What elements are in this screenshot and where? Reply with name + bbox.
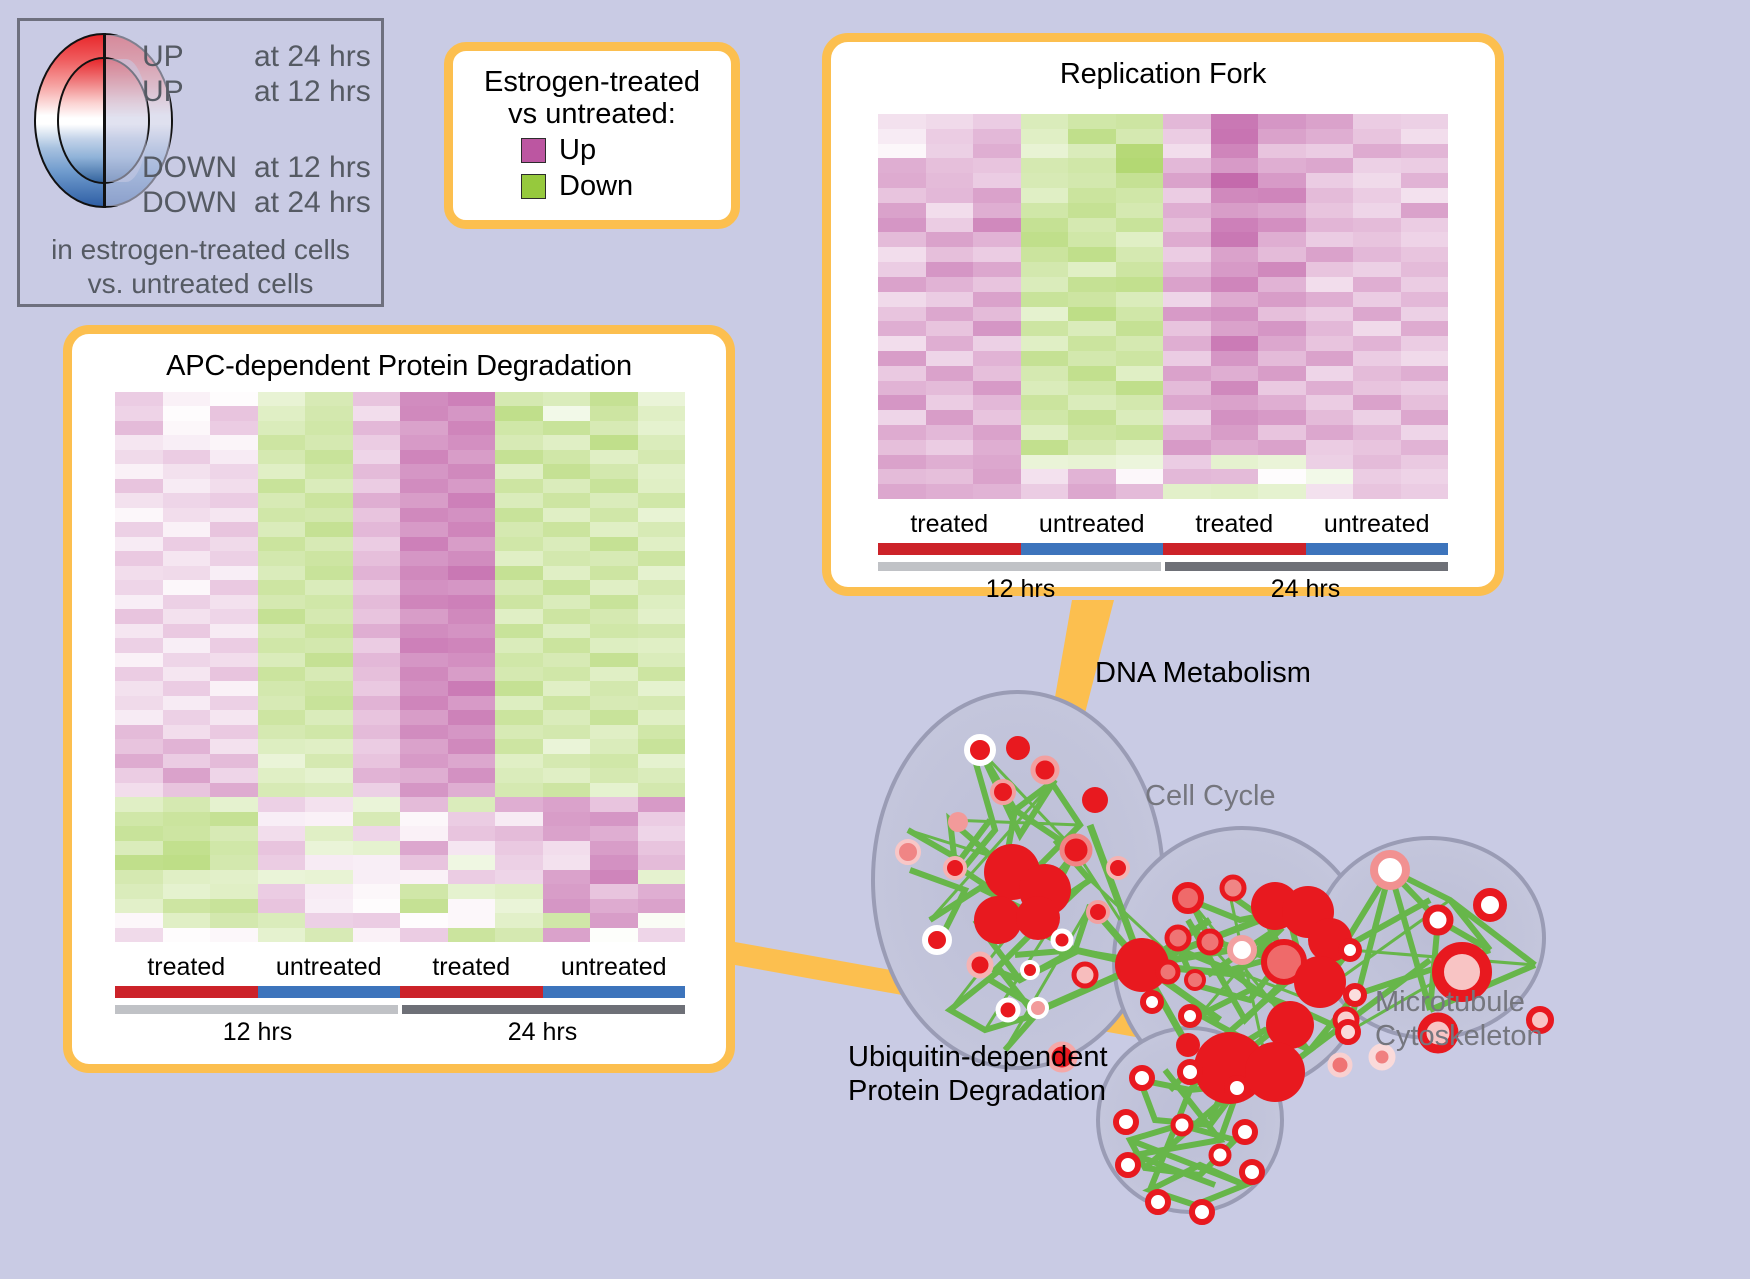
heatmap-cell [543, 667, 591, 681]
heatmap-cell [448, 406, 496, 420]
heatmap-cell [1116, 351, 1164, 366]
heatmap-cell [1163, 440, 1211, 455]
heatmap-cell [258, 566, 306, 580]
heatmap-cell [1353, 321, 1401, 336]
heatmap-cell [973, 218, 1021, 233]
heatmap-cell [1211, 262, 1259, 277]
heatmap-cell [115, 537, 163, 551]
heatmap-cell [305, 435, 353, 449]
heatmap-cell [400, 624, 448, 638]
heatmap-cell [448, 566, 496, 580]
heatmap-cell [973, 232, 1021, 247]
heatmap-cell [1163, 321, 1211, 336]
heatmap-cell [543, 841, 591, 855]
heatmap-cell [115, 580, 163, 594]
heatmap-cell [495, 797, 543, 811]
heatmap-cell [1116, 410, 1164, 425]
heatmap-cell [353, 768, 401, 782]
heatmap-cell [400, 508, 448, 522]
heatmap-cell [1116, 336, 1164, 351]
heatmap-cell [305, 899, 353, 913]
heatmap-cell [1068, 247, 1116, 262]
heatmap-cell [1163, 129, 1211, 144]
heatmap-cell [1211, 144, 1259, 159]
heatmap-cell [305, 609, 353, 623]
heatmap-cell [353, 421, 401, 435]
heatmap-cell [115, 667, 163, 681]
heatmap-cell [305, 667, 353, 681]
heatmap-cell [590, 464, 638, 478]
heatmap-cell [1021, 292, 1069, 307]
heatmap-cell [258, 421, 306, 435]
rep-time-0: 12 hrs [878, 575, 1163, 604]
heatmap-cell [305, 870, 353, 884]
heatmap-cell [448, 609, 496, 623]
legend-key-up-24: UP [142, 41, 254, 74]
heatmap-cell [210, 681, 258, 695]
heatmap-cell [1163, 455, 1211, 470]
heatmap-cell [305, 566, 353, 580]
heatmap-cell [1258, 247, 1306, 262]
heatmap-cell [1068, 484, 1116, 499]
heatmap-cell [1401, 395, 1449, 410]
rep-time-1: 24 hrs [1163, 575, 1448, 604]
heatmap-cell [305, 638, 353, 652]
heatmap-cell [400, 522, 448, 536]
heatmap-cell [163, 681, 211, 695]
heatmap-cell [926, 173, 974, 188]
heatmap-cell [1021, 114, 1069, 129]
heatmap-cell [353, 464, 401, 478]
heatmap-cell [1116, 232, 1164, 247]
key-item-up: Up [521, 134, 731, 167]
heatmap-cell [115, 435, 163, 449]
heatmap-cell [115, 797, 163, 811]
legend-key-up-12: UP [142, 76, 254, 109]
heatmap-cell [973, 395, 1021, 410]
heatmap-cell [115, 551, 163, 565]
heatmap-cell [163, 739, 211, 753]
heatmap-cell [115, 392, 163, 406]
heatmap-cell [448, 653, 496, 667]
heatmap-cell [638, 725, 686, 739]
rep-cond-3: untreated [1306, 510, 1449, 539]
heatmap-cell [1163, 277, 1211, 292]
heatmap-cell [353, 580, 401, 594]
heatmap-cell [115, 609, 163, 623]
heatmap-cell [543, 537, 591, 551]
heatmap-cell [1306, 469, 1354, 484]
heatmap-cell [1258, 188, 1306, 203]
heatmap-cell [1306, 188, 1354, 203]
heatmap-cell [638, 928, 686, 942]
heatmap-cell [495, 537, 543, 551]
heatmap-cell [353, 928, 401, 942]
legend-key-down-24: DOWN [142, 187, 254, 220]
heatmap-cell [258, 783, 306, 797]
heatmap-cell [973, 425, 1021, 440]
heatmap-cell [590, 609, 638, 623]
heatmap-cell [878, 484, 926, 499]
heatmap-cell [163, 392, 211, 406]
heatmap-cell [1306, 292, 1354, 307]
heatmap-cell [210, 696, 258, 710]
network-label-ubiquitin-degradation: Ubiquitin-dependent Protein Degradation [848, 1040, 1108, 1108]
heatmap-cell [1306, 114, 1354, 129]
heatmap-cell [1401, 173, 1449, 188]
heatmap-cell [1306, 321, 1354, 336]
heatmap-cell [638, 768, 686, 782]
microtubule-line2: Cytoskeleton [1375, 1019, 1543, 1053]
heatmap-cell [590, 884, 638, 898]
heatmap-cell [210, 768, 258, 782]
key-item-down: Down [521, 170, 731, 203]
heatmap-cell [590, 928, 638, 942]
heatmap-cell [1116, 218, 1164, 233]
legend-value-up-24: at 24 hrs [254, 41, 371, 74]
heatmap-cell [305, 580, 353, 594]
heatmap-cell [878, 203, 926, 218]
heatmap-cell [1021, 321, 1069, 336]
heatmap-cell [400, 826, 448, 840]
apc-condition-bar [115, 986, 685, 998]
heatmap-cell [353, 870, 401, 884]
heatmap-cell [1353, 173, 1401, 188]
timepoint-segment-1 [1165, 562, 1448, 571]
heatmap-cell [353, 392, 401, 406]
heatmap-cell [590, 725, 638, 739]
heatmap-cell [1116, 114, 1164, 129]
heatmap-cell [258, 884, 306, 898]
heatmap-cell [1258, 366, 1306, 381]
heatmap-cell [878, 129, 926, 144]
heatmap-cell [1068, 469, 1116, 484]
heatmap-cell [638, 899, 686, 913]
heatmap-cell [1068, 455, 1116, 470]
heatmap-cell [163, 421, 211, 435]
heatmap-cell [305, 768, 353, 782]
heatmap-cell [1068, 188, 1116, 203]
heatmap-cell [1163, 173, 1211, 188]
heatmap-cell [878, 232, 926, 247]
heatmap-cell [305, 841, 353, 855]
heatmap-cell [163, 913, 211, 927]
heatmap-cell [1306, 440, 1354, 455]
heatmap-cell [1401, 144, 1449, 159]
heatmap-cell [543, 450, 591, 464]
heatmap-cell [1306, 366, 1354, 381]
heatmap-cell [878, 455, 926, 470]
heatmap-cell [1211, 158, 1259, 173]
heatmap-cell [1258, 144, 1306, 159]
legend-row-up-12: UP at 12 hrs [142, 76, 382, 109]
heatmap-cell [1258, 455, 1306, 470]
heatmap-cell [926, 262, 974, 277]
heatmap-cell [878, 351, 926, 366]
heatmap-cell [543, 768, 591, 782]
heatmap-cell [1401, 129, 1449, 144]
heatmap-cell [400, 754, 448, 768]
heatmap-cell [305, 653, 353, 667]
heatmap-cell [1211, 247, 1259, 262]
condition-segment-0 [115, 986, 258, 998]
heatmap-cell [1021, 381, 1069, 396]
heatmap-cell [495, 681, 543, 695]
heatmap-cell [115, 508, 163, 522]
panel-replication-fork: Replication Fork treated untreated treat… [822, 33, 1504, 596]
heatmap-cell [258, 739, 306, 753]
heatmap-cell [353, 479, 401, 493]
heatmap-cell [878, 469, 926, 484]
heatmap-cell [1116, 262, 1164, 277]
heatmap-cell [495, 739, 543, 753]
heatmap-cell [400, 493, 448, 507]
heatmap-cell [353, 841, 401, 855]
heatmap-cell [210, 464, 258, 478]
heatmap-cell [1258, 173, 1306, 188]
heatmap-cell [1163, 307, 1211, 322]
heatmap-cell [926, 336, 974, 351]
heatmap-cell [1021, 232, 1069, 247]
heatmap-cell [305, 783, 353, 797]
heatmap-cell [543, 653, 591, 667]
heatmap-cell [115, 841, 163, 855]
heatmap-cell [353, 609, 401, 623]
heatmap-cell [1401, 336, 1449, 351]
heatmap-cell [1163, 158, 1211, 173]
heatmap-cell [1401, 321, 1449, 336]
heatmap-cell [590, 624, 638, 638]
heatmap-cell [973, 262, 1021, 277]
heatmap-cell [638, 667, 686, 681]
heatmap-cell [400, 667, 448, 681]
heatmap-cell [163, 725, 211, 739]
heatmap-cell [210, 710, 258, 724]
heatmap-cell [1211, 425, 1259, 440]
heatmap-cell [163, 450, 211, 464]
heatmap-cell [400, 479, 448, 493]
heatmap-cell [973, 292, 1021, 307]
heatmap-cell [400, 899, 448, 913]
heatmap-cell [258, 464, 306, 478]
pathway-network: DNA Metabolism Cell Cycle Microtubule Cy… [790, 620, 1750, 1279]
heatmap-cell [210, 841, 258, 855]
heatmap-cell [353, 754, 401, 768]
heatmap-cell [1211, 395, 1259, 410]
heatmap-cell [1068, 307, 1116, 322]
heatmap-cell [1068, 410, 1116, 425]
legend-footer: in estrogen-treated cells vs. untreated … [20, 233, 381, 301]
heatmap-cell [210, 624, 258, 638]
heatmap-cell [590, 522, 638, 536]
heatmap-cell [400, 450, 448, 464]
heatmap-cell [305, 928, 353, 942]
heatmap-cell [448, 913, 496, 927]
timepoint-segment-1 [402, 1005, 685, 1014]
heatmap-cell [1353, 336, 1401, 351]
network-label-microtubule-cytoskeleton: Microtubule Cytoskeleton [1375, 985, 1543, 1053]
heatmap-cell [305, 826, 353, 840]
heatmap-cell [495, 754, 543, 768]
heatmap-cell [115, 681, 163, 695]
heatmap-cell [495, 566, 543, 580]
heatmap-cell [400, 783, 448, 797]
heatmap-cell [495, 580, 543, 594]
heatmap-cell [258, 479, 306, 493]
heatmap-cell [1353, 351, 1401, 366]
heatmap-cell [1258, 381, 1306, 396]
apc-timepoint-labels: 12 hrs 24 hrs [115, 1018, 685, 1047]
heatmap-cell [638, 913, 686, 927]
ubiquitin-line2: Protein Degradation [848, 1074, 1108, 1108]
heatmap-cell [1353, 144, 1401, 159]
heatmap-cell [115, 913, 163, 927]
heatmap-cell [1068, 203, 1116, 218]
heatmap-cell [973, 410, 1021, 425]
updown-color-key: Estrogen-treated vs untreated: Up Down [444, 42, 740, 229]
heatmap-cell [448, 812, 496, 826]
heatmap-cell [353, 435, 401, 449]
heatmap-cell [163, 464, 211, 478]
legend-divider-line [103, 33, 106, 208]
heatmap-cell [1068, 321, 1116, 336]
heatmap-cell [258, 508, 306, 522]
heatmap-cell [878, 321, 926, 336]
heatmap-cell [305, 508, 353, 522]
heatmap-cell [1163, 366, 1211, 381]
heatmap-cell [258, 696, 306, 710]
heatmap-cell [543, 406, 591, 420]
heatmap-cell [638, 696, 686, 710]
legend-value-up-12: at 12 hrs [254, 76, 371, 109]
heatmap-cell [638, 710, 686, 724]
apc-time-0: 12 hrs [115, 1018, 400, 1047]
heatmap-cell [163, 595, 211, 609]
heatmap-cell [163, 493, 211, 507]
heatmap-cell [495, 913, 543, 927]
heatmap-cell [1068, 440, 1116, 455]
heatmap-cell [1353, 425, 1401, 440]
heatmap-cell [1211, 484, 1259, 499]
heatmap-cell [1258, 484, 1306, 499]
legend-footer-line2: vs. untreated cells [20, 267, 381, 301]
heatmap-cell [1353, 262, 1401, 277]
heatmap-cell [448, 725, 496, 739]
heatmap-cell [115, 884, 163, 898]
legend-value-down-12: at 12 hrs [254, 152, 371, 185]
heatmap-cell [638, 681, 686, 695]
heatmap-cell [163, 580, 211, 594]
heatmap-cell [258, 913, 306, 927]
heatmap-cell [305, 855, 353, 869]
heatmap-cell [258, 493, 306, 507]
heatmap-cell [210, 566, 258, 580]
heatmap-cell [1163, 203, 1211, 218]
heatmap-cell [543, 812, 591, 826]
heatmap-cell [353, 855, 401, 869]
heatmap-cell [258, 638, 306, 652]
heatmap-cell [400, 855, 448, 869]
heatmap-cell [1068, 173, 1116, 188]
heatmap-cell [1163, 262, 1211, 277]
legend-row-down-24: DOWN at 24 hrs [142, 187, 382, 220]
heatmap-cell [878, 144, 926, 159]
heatmap-cell [1401, 381, 1449, 396]
heatmap-cell [258, 725, 306, 739]
heatmap-cell [543, 638, 591, 652]
heatmap-cell [258, 841, 306, 855]
heatmap-cell [1258, 232, 1306, 247]
heatmap-cell [1211, 336, 1259, 351]
heatmap-cell [878, 188, 926, 203]
heatmap-cell [495, 812, 543, 826]
heatmap-cell [1116, 188, 1164, 203]
heatmap-cell [400, 928, 448, 942]
heatmap-cell [163, 797, 211, 811]
heatmap-cell [638, 392, 686, 406]
heatmap-cell [1021, 469, 1069, 484]
heatmap-cell [115, 725, 163, 739]
heatmap-cell [163, 812, 211, 826]
heatmap-cell [1401, 425, 1449, 440]
apc-title: APC-dependent Protein Degradation [72, 350, 726, 383]
heatmap-cell [210, 508, 258, 522]
heatmap-cell [115, 783, 163, 797]
heatmap-cell [400, 566, 448, 580]
heatmap-cell [210, 392, 258, 406]
heatmap-cell [258, 667, 306, 681]
heatmap-cell [353, 681, 401, 695]
heatmap-cell [973, 129, 1021, 144]
heatmap-cell [163, 508, 211, 522]
legend-key-down-12: DOWN [142, 152, 254, 185]
heatmap-cell [926, 114, 974, 129]
heatmap-cell [1021, 203, 1069, 218]
heatmap-cell [495, 768, 543, 782]
heatmap-cell [163, 855, 211, 869]
microtubule-line1: Microtubule [1375, 985, 1543, 1019]
heatmap-cell [590, 435, 638, 449]
heatmap-cell [926, 277, 974, 292]
heatmap-cell [638, 551, 686, 565]
heatmap-cell [163, 841, 211, 855]
heatmap-cell [638, 508, 686, 522]
heatmap-cell [973, 173, 1021, 188]
heatmap-cell [543, 739, 591, 753]
heatmap-cell [353, 725, 401, 739]
heatmap-cell [400, 841, 448, 855]
heatmap-cell [163, 696, 211, 710]
heatmap-cell [1258, 410, 1306, 425]
heatmap-cell [353, 783, 401, 797]
heatmap-cell [878, 173, 926, 188]
rep-cond-0: treated [878, 510, 1021, 539]
heatmap-cell [638, 870, 686, 884]
heatmap-cell [448, 667, 496, 681]
heatmap-cell [1211, 307, 1259, 322]
heatmap-cell [305, 797, 353, 811]
heatmap-cell [878, 218, 926, 233]
heatmap-cell [1306, 277, 1354, 292]
heatmap-cell [1021, 158, 1069, 173]
heatmap-cell [878, 395, 926, 410]
heatmap-cell [878, 158, 926, 173]
heatmap-cell [448, 624, 496, 638]
heatmap-cell [638, 739, 686, 753]
heatmap-cell [1401, 455, 1449, 470]
heatmap-cell [210, 797, 258, 811]
heatmap-cell [353, 537, 401, 551]
